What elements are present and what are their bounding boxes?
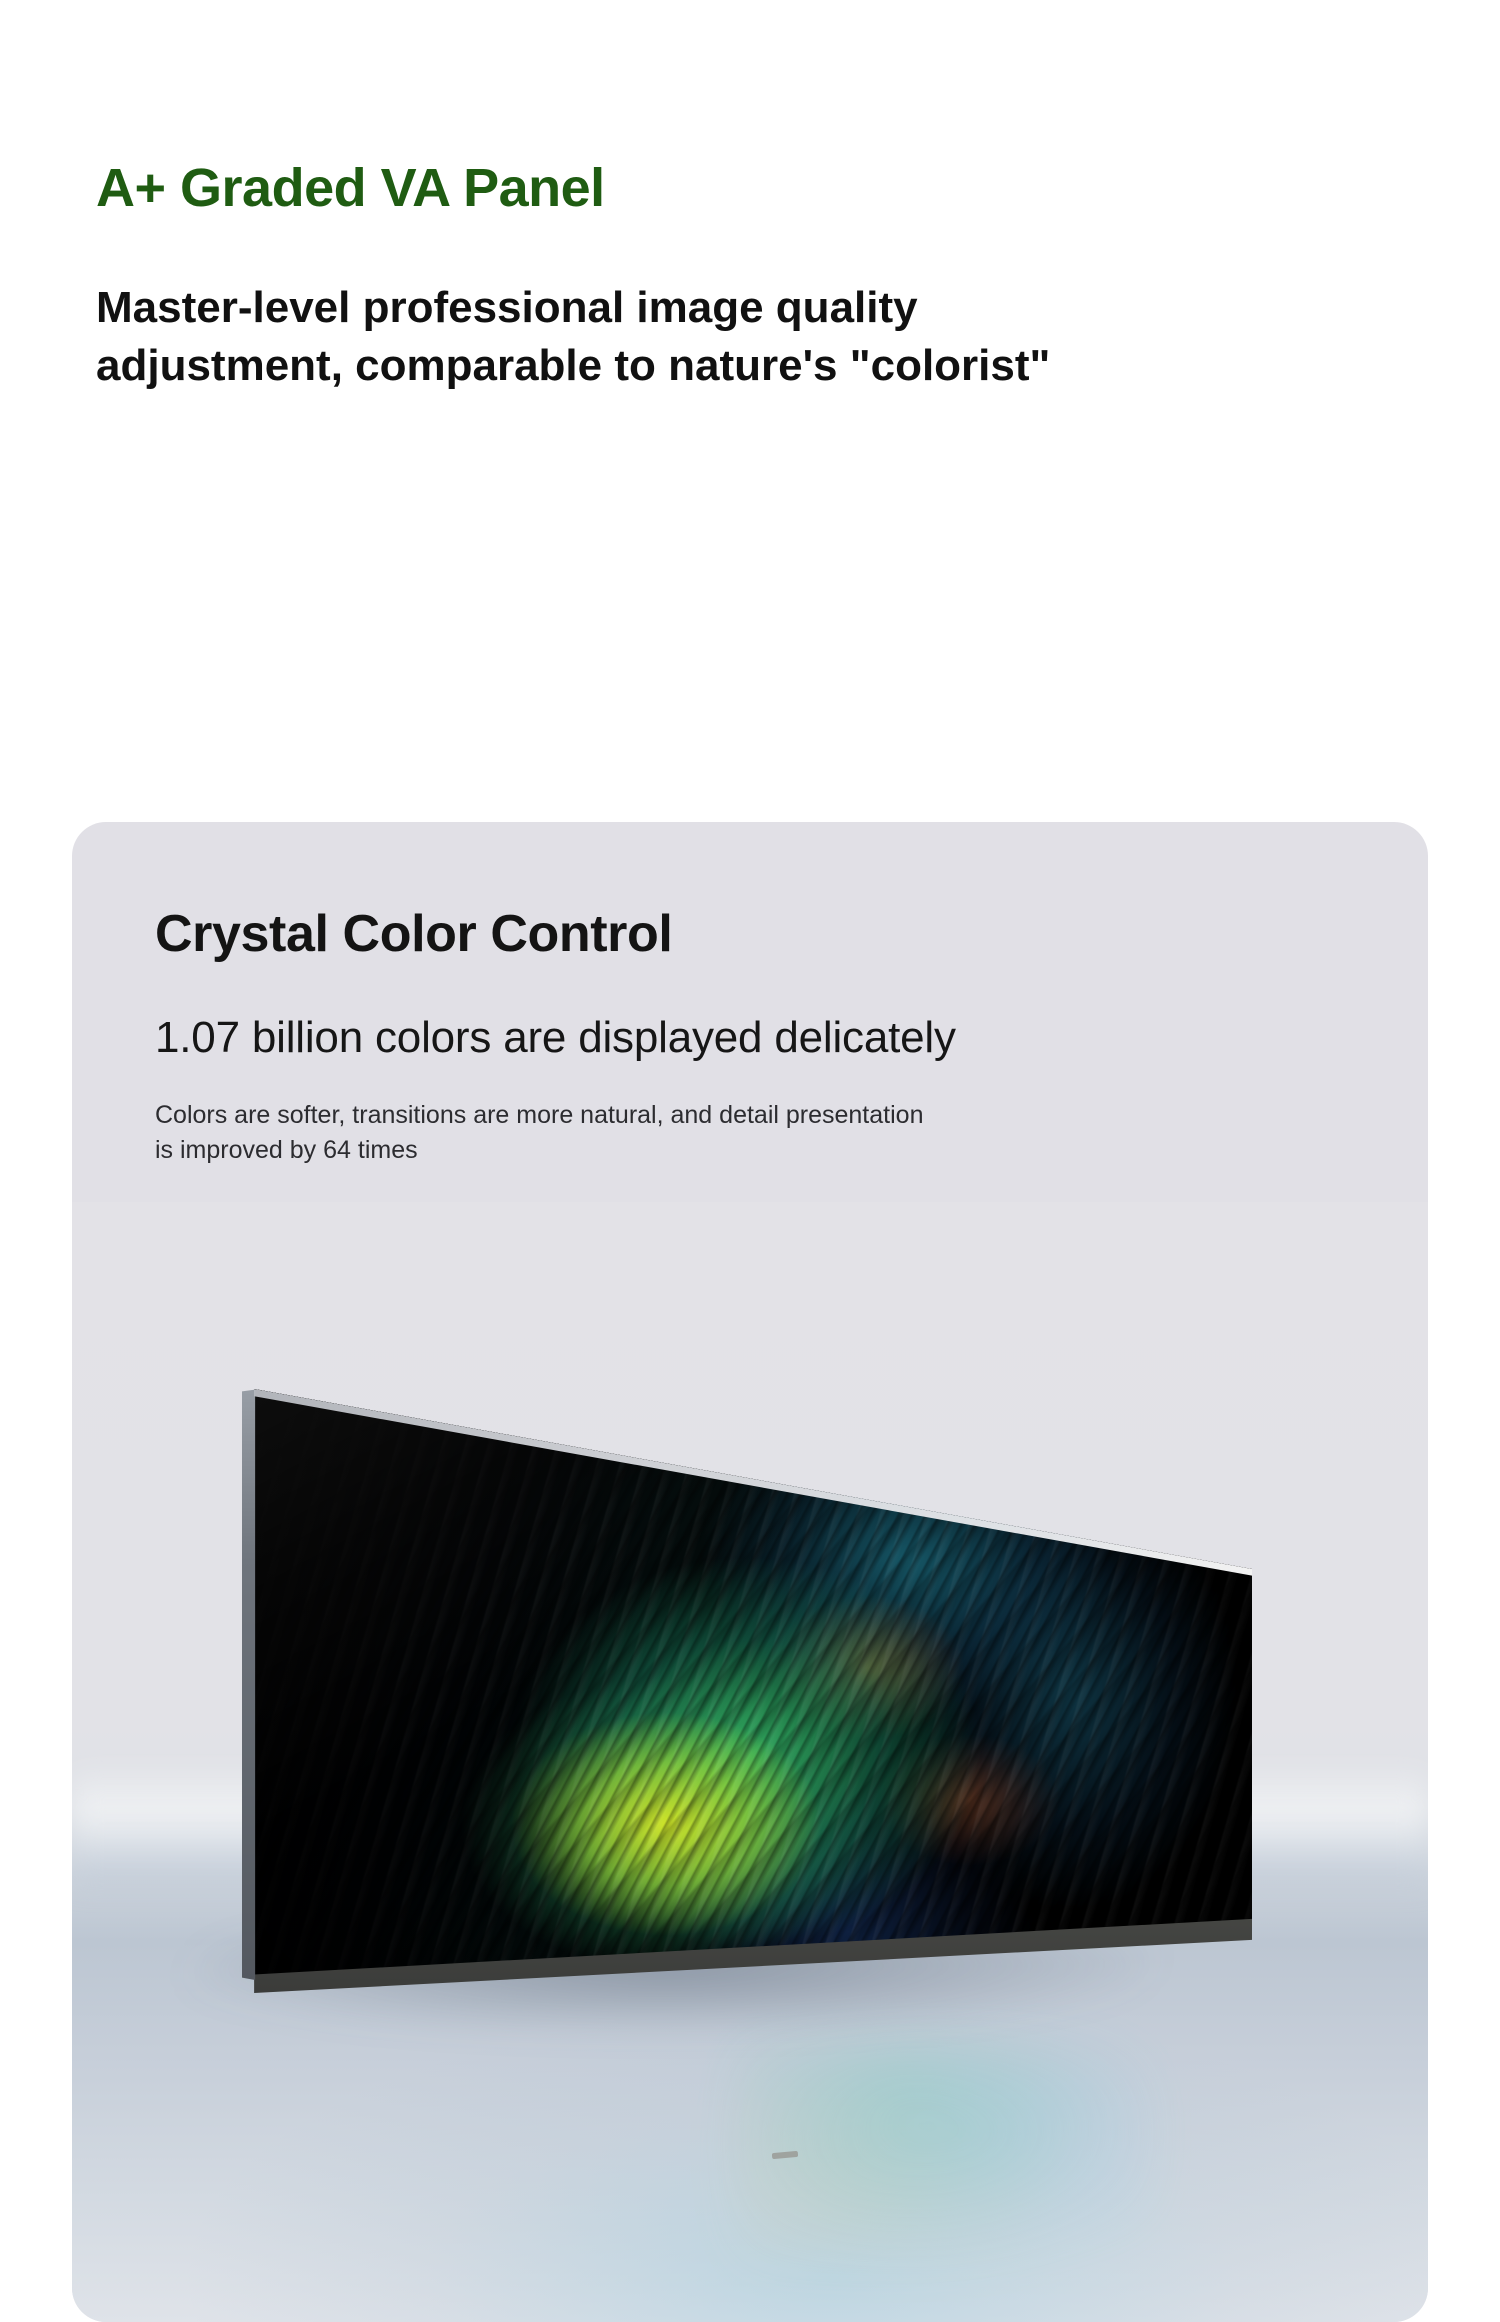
product-feature-page: A+ Graded VA Panel Master-level professi… (0, 0, 1500, 2322)
feature-subheading: 1.07 billion colors are displayed delica… (155, 1013, 1335, 1064)
feature-description: Colors are softer, transitions are more … (155, 1098, 1265, 1169)
product-image (72, 1202, 1428, 2322)
tv-screen (242, 1380, 1252, 1980)
feature-description-line-2: is improved by 64 times (155, 1136, 418, 1164)
feature-heading: Crystal Color Control (155, 906, 1335, 963)
page-subtitle-line-2: adjustment, comparable to nature's "colo… (96, 341, 1050, 390)
feature-card-copy: Crystal Color Control 1.07 billion color… (155, 906, 1335, 1169)
feature-description-line-1: Colors are softer, transitions are more … (155, 1101, 923, 1129)
television (72, 1202, 1428, 2322)
page-subtitle: Master-level professional image quality … (96, 279, 1216, 395)
page-title: A+ Graded VA Panel (96, 160, 1416, 217)
page-subtitle-line-1: Master-level professional image quality (96, 283, 918, 332)
product-image-alt-text: Flat-screen television shown at an angle… (0, 0, 1, 1)
feature-card: Crystal Color Control 1.07 billion color… (72, 822, 1428, 2322)
page-header: A+ Graded VA Panel Master-level professi… (96, 160, 1416, 395)
screen-glass-reflection (242, 1380, 1252, 1980)
